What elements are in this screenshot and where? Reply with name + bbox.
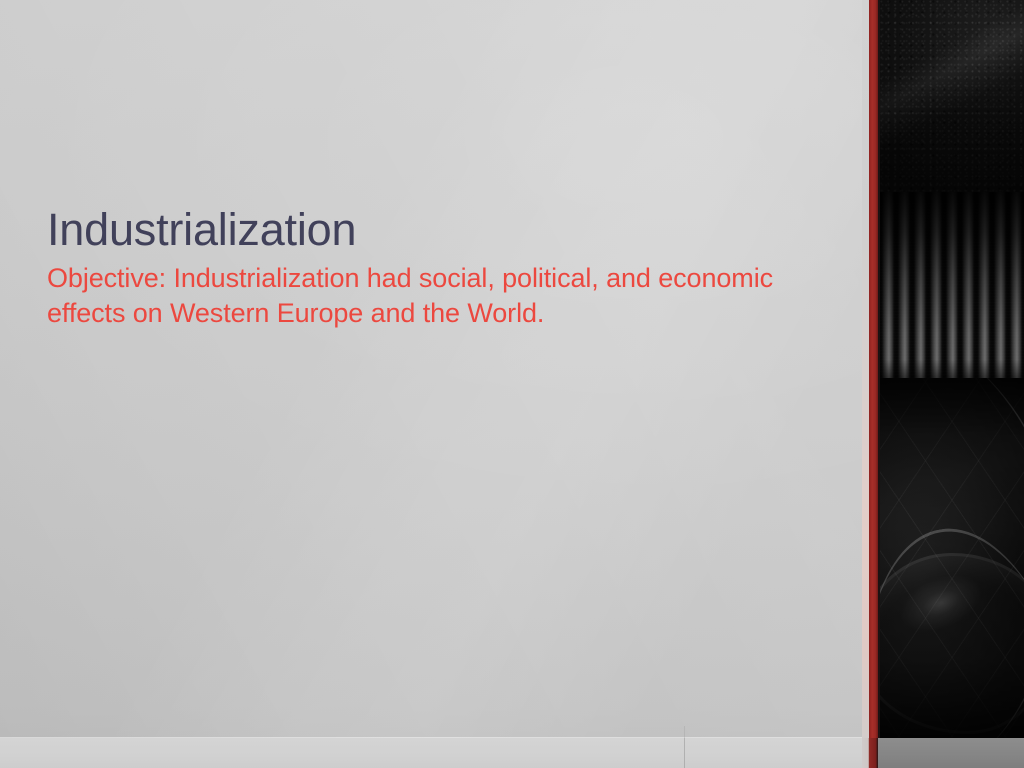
- slide-title: Industrialization: [47, 206, 807, 255]
- slide-text-block: Industrialization Objective: Industriali…: [47, 206, 807, 331]
- footer-divider: [684, 738, 685, 768]
- strip-outer-edge: [862, 0, 869, 738]
- strip-footer-block: [878, 738, 1024, 768]
- dark-quilted-leather-photo: [880, 378, 1024, 738]
- red-vertical-accent-stripe: [869, 0, 878, 738]
- dark-vertical-slats-photo: [880, 192, 1024, 378]
- footer-tick-mark: [684, 726, 685, 738]
- black-pebbled-leather-photo: [880, 0, 1024, 192]
- strip-footer-edge: [862, 738, 878, 768]
- slat-light-falloff: [880, 192, 1024, 378]
- photo-stack: [880, 0, 1024, 738]
- decorative-photo-strip: [862, 0, 1024, 738]
- quilt-vignette: [880, 378, 1024, 738]
- slide-objective-text: Objective: Industrialization had social,…: [47, 261, 807, 331]
- footer-band: [0, 738, 869, 768]
- leather-vignette: [880, 0, 1024, 192]
- presentation-slide: Industrialization Objective: Industriali…: [0, 0, 1024, 768]
